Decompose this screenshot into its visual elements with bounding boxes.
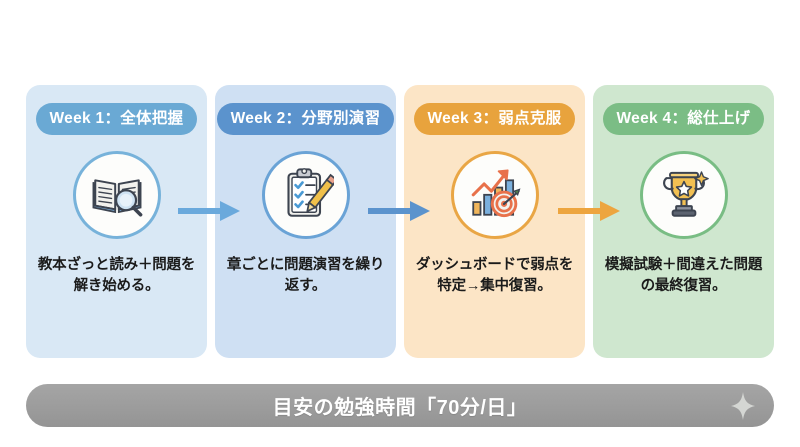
step-icon-circle-week-2 [262,151,350,239]
step-caption-week-1: 教本ざっと読み＋問題を解き始める。 [37,255,197,297]
arrow-week1-to-week2 [178,196,244,226]
study-time-banner-text: 目安の勉強時間「70分/日」 [273,391,528,420]
clipboard-checklist-pencil-icon [278,165,334,226]
arrow-week3-to-week4 [558,196,624,226]
study-time-banner: 目安の勉強時間「70分/日」 [26,384,774,427]
step-icon-circle-week-4 [640,151,728,239]
trophy-star-sparkle-icon [656,165,712,226]
step-icon-circle-week-3 [451,151,539,239]
open-book-magnifier-icon [88,164,146,227]
step-caption-week-2: 章ごとに問題演習を繰り返す。 [226,255,386,297]
diagram-canvas: Week 1：全体把握 [0,0,800,447]
step-icon-circle-week-1 [73,151,161,239]
step-pill-week-4: Week 4：総仕上げ [603,103,765,135]
bar-chart-growth-target-icon [466,164,524,227]
step-pill-week-3: Week 3：弱点克服 [414,103,576,135]
step-pill-week-2: Week 2：分野別演習 [217,103,395,135]
step-caption-week-3: ダッシュボードで弱点を特定→集中復習。 [415,255,575,297]
step-caption-week-4: 模擬試験＋間違えた問題の最終復習。 [604,255,764,297]
step-pill-week-1: Week 1：全体把握 [36,103,198,135]
sparkle-icon [730,391,756,421]
arrow-week2-to-week3 [368,196,434,226]
